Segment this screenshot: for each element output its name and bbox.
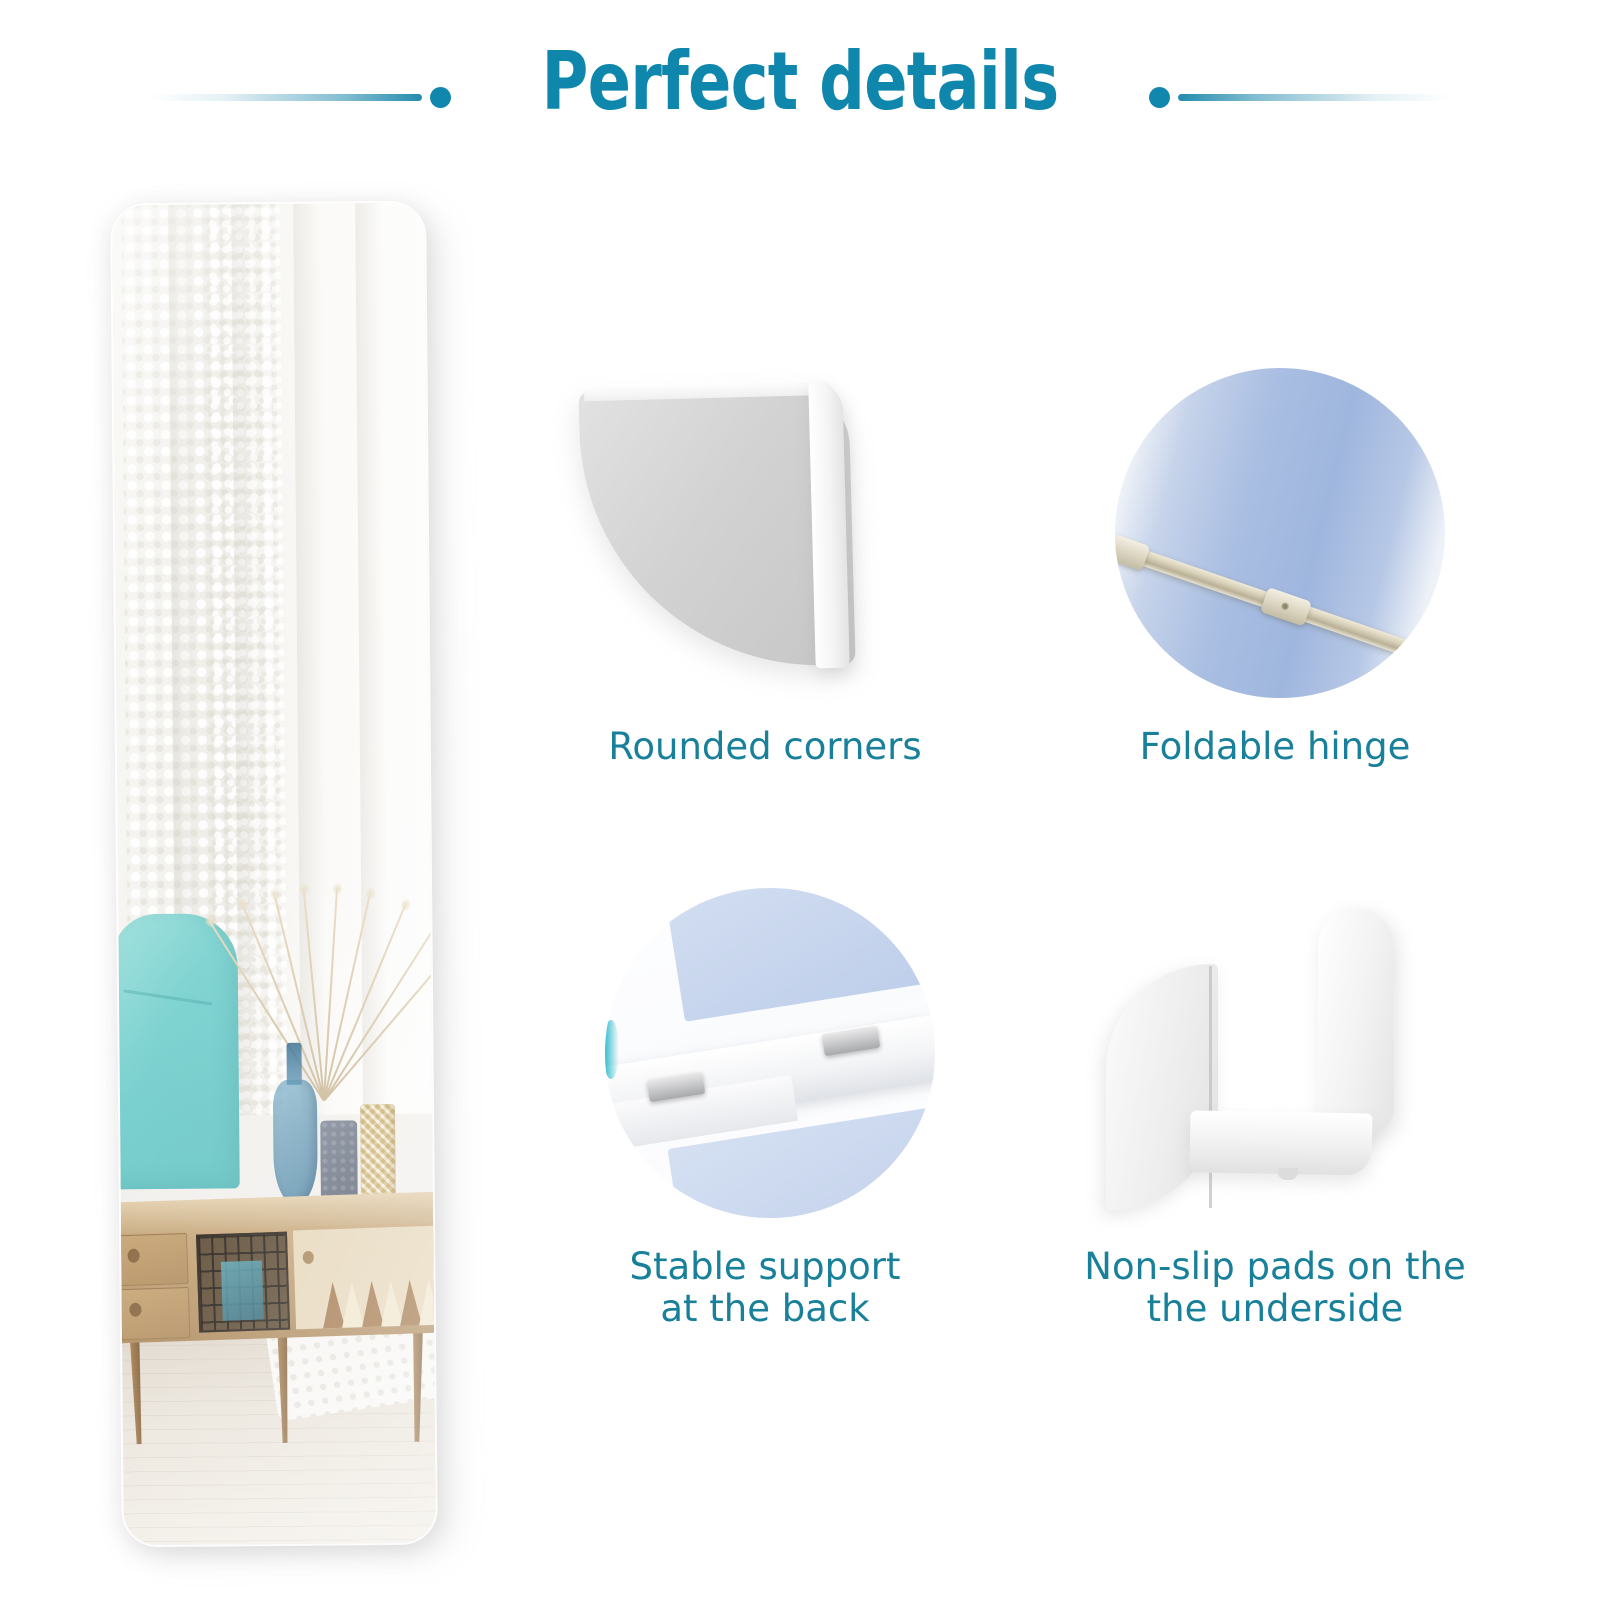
feature-caption-line: at the back bbox=[530, 1288, 1000, 1330]
reflected-console-body bbox=[112, 1220, 436, 1344]
reflected-gold-vase bbox=[360, 1103, 395, 1205]
foldable-hinge-figure bbox=[1040, 360, 1510, 720]
hinge-photo-circle bbox=[1115, 368, 1445, 698]
rounded-corner-figure bbox=[530, 360, 1000, 720]
stable-support-figure bbox=[530, 880, 1000, 1240]
feature-caption: Foldable hinge bbox=[1040, 726, 1510, 768]
mirror-panel bbox=[112, 203, 436, 1546]
page-header: Perfect details bbox=[0, 0, 1600, 170]
reflected-dried-flowers bbox=[255, 886, 394, 1102]
u-bracket-support bbox=[1100, 900, 1450, 1220]
feature-caption-line: Rounded corners bbox=[530, 726, 1000, 768]
feature-non-slip-pads: Non-slip pads on the the underside bbox=[1040, 880, 1510, 1330]
feature-grid: Rounded corners Fo bbox=[500, 360, 1560, 1450]
cabinet-knob bbox=[302, 1251, 313, 1264]
bracket-rounded-panel bbox=[1106, 964, 1218, 1210]
reflected-patterned-cabinet bbox=[293, 1225, 436, 1329]
feature-caption-line: Foldable hinge bbox=[1040, 726, 1510, 768]
feature-caption: Stable support at the back bbox=[530, 1246, 1000, 1330]
feature-caption-line: Stable support bbox=[530, 1246, 1000, 1288]
bracket-right-arm bbox=[1318, 908, 1394, 1140]
non-slip-pad bbox=[1278, 1168, 1298, 1180]
reflected-armchair bbox=[112, 913, 239, 1189]
hero-mirror-photo bbox=[100, 190, 450, 1570]
decorative-rule-right bbox=[1178, 94, 1450, 101]
feature-rounded-corners: Rounded corners bbox=[530, 360, 1000, 768]
page-title: Perfect details bbox=[160, 42, 1440, 122]
feature-caption: Rounded corners bbox=[530, 726, 1000, 768]
mirror-reflection bbox=[112, 203, 436, 1546]
feature-caption-line: Non-slip pads on the bbox=[1040, 1246, 1510, 1288]
reflected-wire-basket bbox=[195, 1232, 290, 1334]
feature-foldable-hinge: Foldable hinge bbox=[1040, 360, 1510, 768]
console-drawer bbox=[118, 1233, 189, 1287]
feature-caption-line: the underside bbox=[1040, 1288, 1510, 1330]
feature-stable-support: Stable support at the back bbox=[530, 880, 1000, 1330]
decorative-dot-right-icon bbox=[1149, 87, 1170, 108]
reflected-blue-vase bbox=[273, 1080, 318, 1204]
support-photo-circle bbox=[605, 888, 935, 1218]
non-slip-pads-figure bbox=[1040, 880, 1510, 1240]
reflected-grey-vase bbox=[320, 1120, 358, 1203]
feature-caption: Non-slip pads on the the underside bbox=[1040, 1246, 1510, 1330]
teal-accent-edge bbox=[921, 1145, 935, 1178]
console-drawer bbox=[119, 1287, 190, 1341]
bracket-base bbox=[1189, 1110, 1372, 1175]
